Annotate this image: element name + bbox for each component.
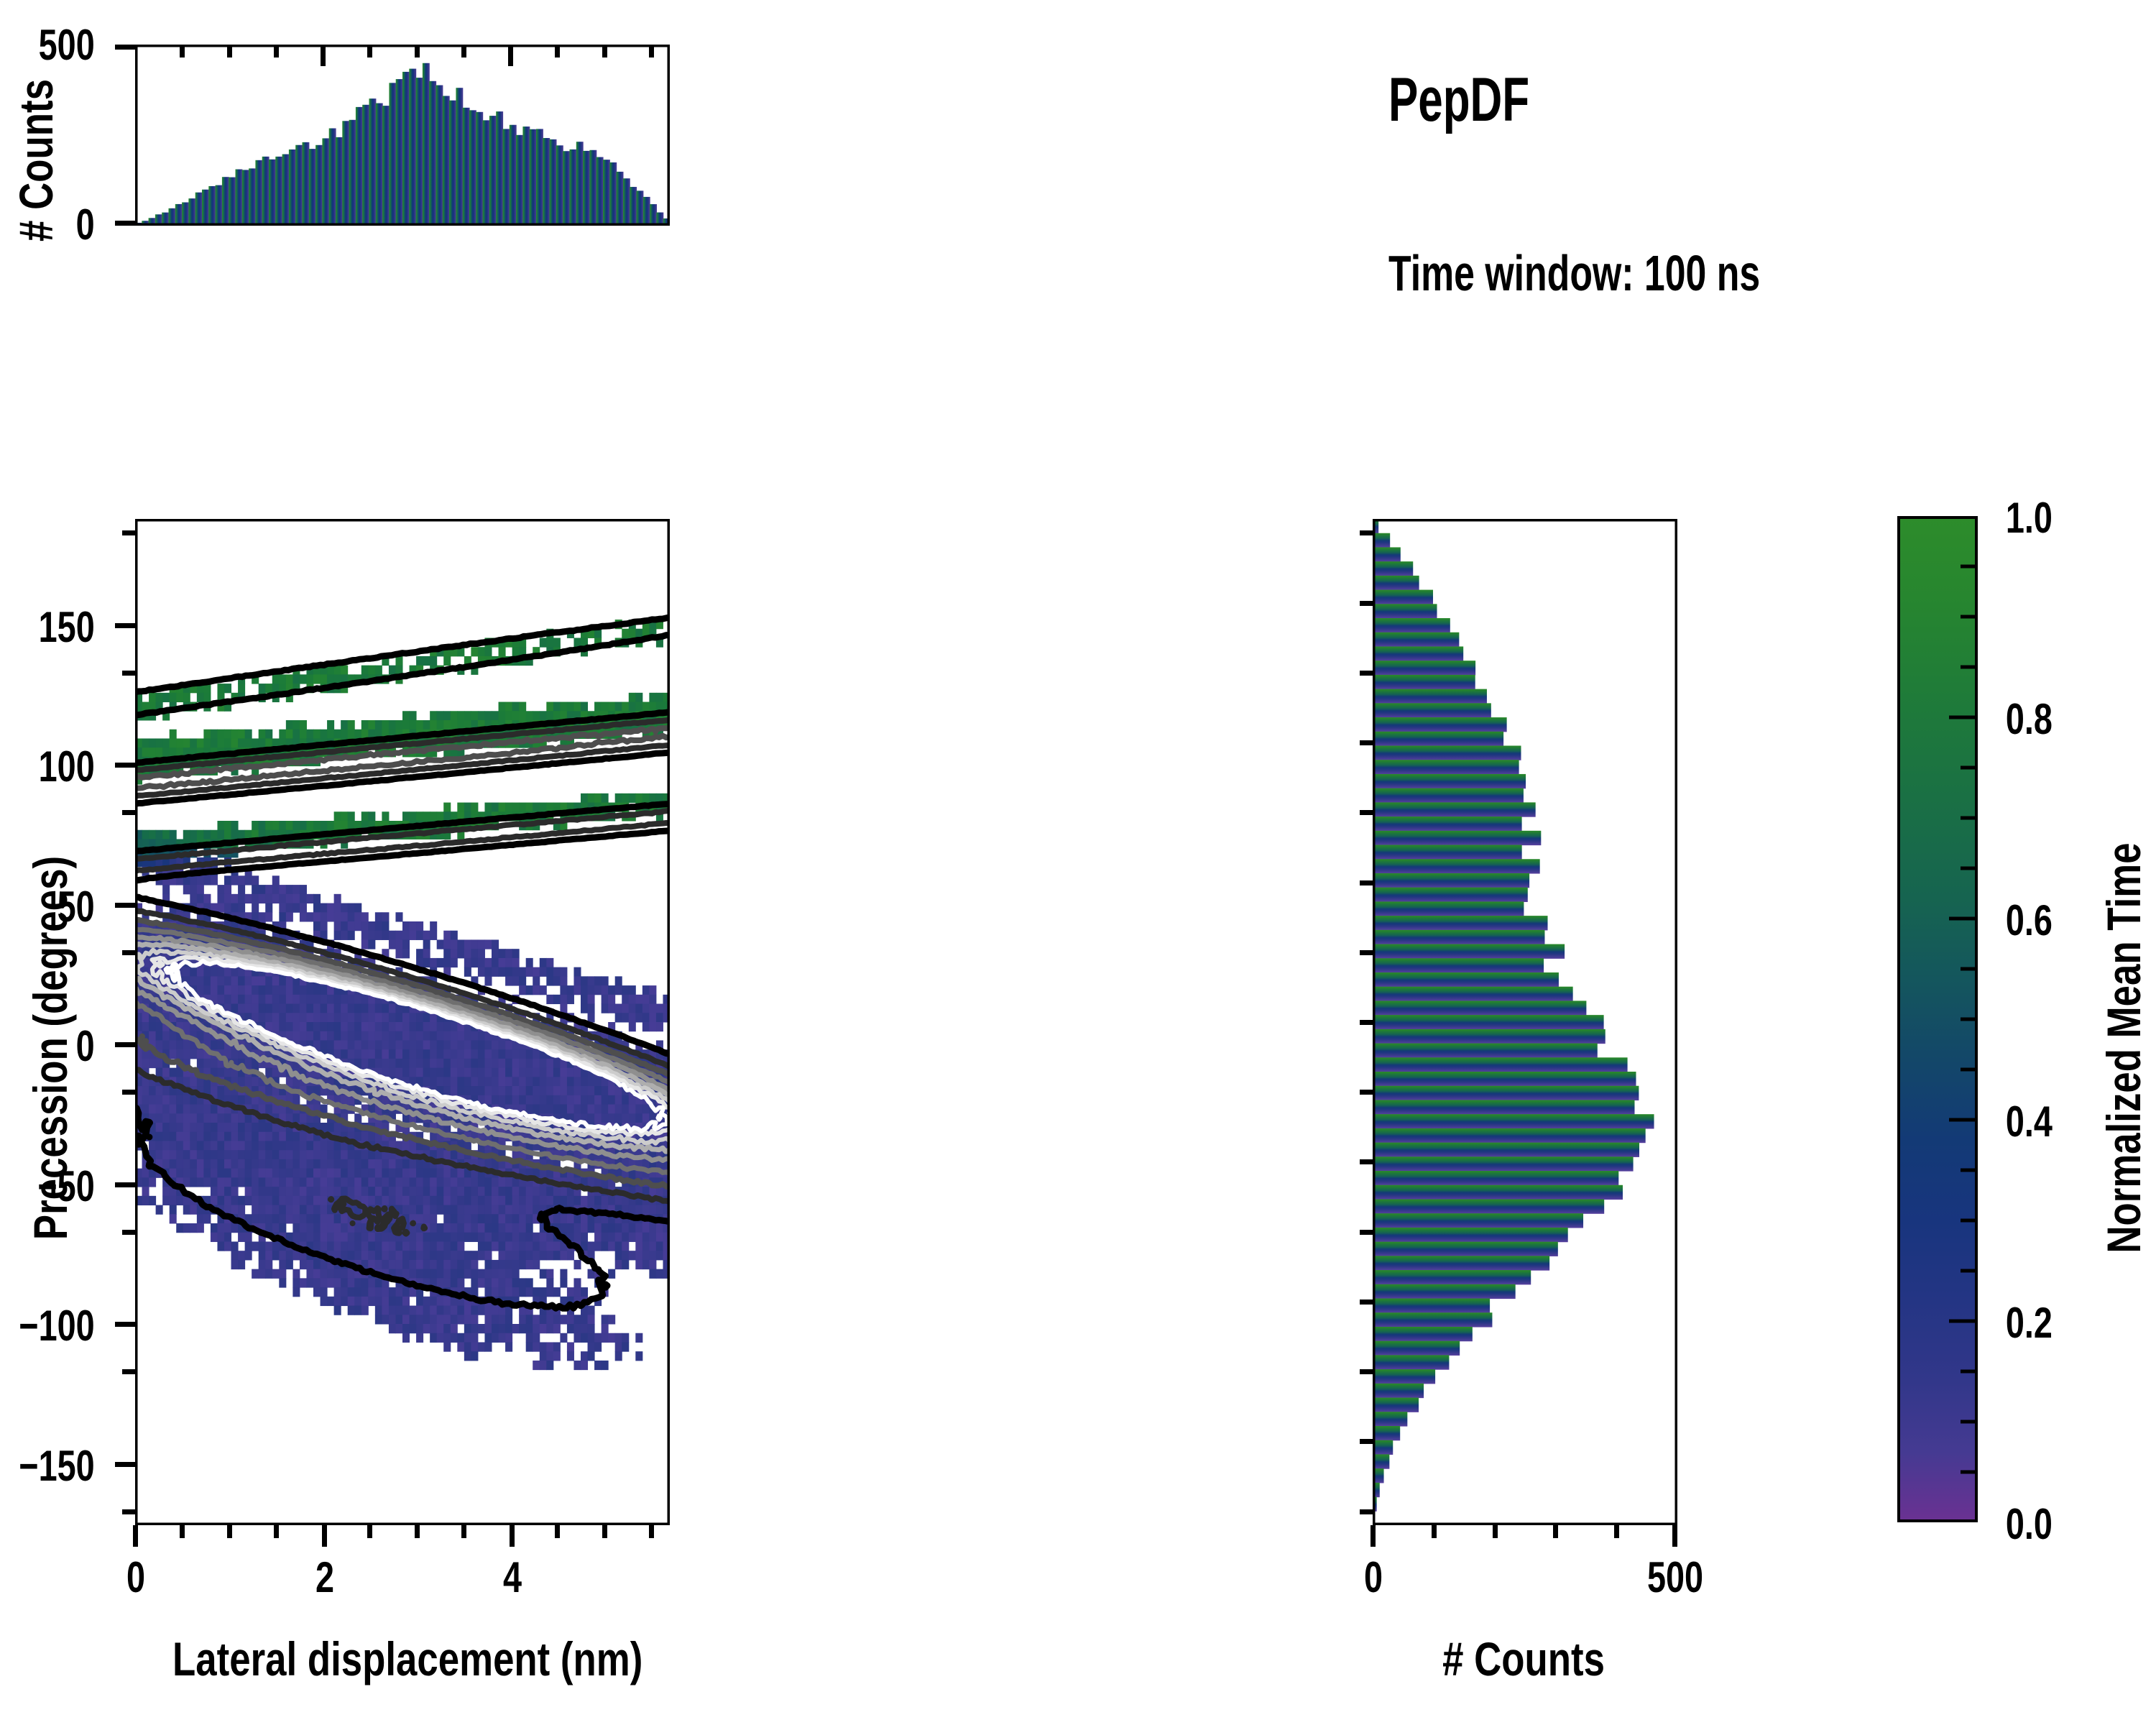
right-panel-ytick-minor: [1360, 810, 1373, 815]
main-ytick-minor: [122, 1369, 135, 1374]
main-xtick-2: [322, 1525, 327, 1547]
right-panel-ytick-minor: [1360, 601, 1373, 606]
main-xtick-minor: [415, 1525, 420, 1538]
figure-root: 500 0 # Counts 150 100 50 0 −50 −100 −15…: [0, 0, 2156, 1725]
main-xtick-label-4: 4: [471, 1552, 555, 1602]
right-panel-ytick-minor: [1360, 1439, 1373, 1444]
main-ytick-minor: [122, 530, 135, 535]
right-panel-xtick-500: [1672, 1525, 1677, 1547]
main-ylabel: Precession (degrees): [23, 760, 78, 1335]
right-panel-ytick-minor: [1360, 1299, 1373, 1305]
right-panel-ytick-minor: [1360, 1230, 1373, 1235]
main-xtick-minor: [180, 1525, 185, 1538]
colorbar-svg: [1897, 516, 1978, 1522]
main-xtick-minor: [649, 1525, 654, 1538]
right-panel-xtick-minor: [1614, 1525, 1619, 1538]
right-panel-xlabel: # Counts: [1374, 1632, 1673, 1686]
top-panel-ytick-500: [115, 45, 135, 50]
main-ytick-label-150: 150: [11, 602, 94, 652]
main-xtick-minor: [555, 1525, 560, 1538]
colorbar: [1897, 516, 1978, 1522]
top-panel-xtick-minor: [180, 45, 185, 57]
main-ytick-50: [115, 903, 135, 908]
right-panel-xtick-label-0: 0: [1332, 1552, 1416, 1602]
main-xtick-minor: [227, 1525, 232, 1538]
top-panel-xtick-minor: [367, 45, 372, 57]
right-panel-ytick-minor: [1360, 1509, 1373, 1514]
right-panel-ytick-minor: [1360, 1159, 1373, 1164]
top-panel-xtick-minor: [508, 45, 513, 66]
right-panel-ytick-minor: [1360, 950, 1373, 955]
right-panel-ytick-minor: [1360, 671, 1373, 676]
top-panel-xtick-minor: [321, 45, 326, 66]
right-panel-ytick-minor: [1360, 1369, 1373, 1374]
colorbar-tick-label-0-0: 0.0: [2006, 1499, 2112, 1549]
top-panel-xtick-minor: [602, 45, 607, 57]
colorbar-label: Normalized Mean Time: [2096, 760, 2151, 1335]
main-xtick-label-2: 2: [283, 1552, 367, 1602]
main-xtick-label-0: 0: [94, 1552, 178, 1602]
right-panel-ytick-minor: [1360, 530, 1373, 535]
colorbar-tick-label-0-8: 0.8: [2006, 694, 2112, 744]
right-panel-ytick-minor: [1360, 740, 1373, 745]
top-panel-xtick-minor: [461, 45, 466, 57]
right-panel-ytick-minor: [1360, 880, 1373, 885]
main-heatmap-panel: [135, 519, 670, 1525]
main-xtick-0: [133, 1525, 138, 1547]
top-panel-ytick-0: [115, 221, 135, 226]
right-histogram-panel: [1373, 519, 1677, 1525]
top-panel-xtick-minor: [649, 45, 654, 57]
main-xtick-minor: [461, 1525, 466, 1538]
top-panel-xtick-minor: [274, 45, 279, 57]
top-panel-xtick-minor: [415, 45, 420, 57]
right-panel-xtick-minor: [1432, 1525, 1437, 1538]
main-ytick-150: [115, 623, 135, 628]
top-histogram-svg: [135, 45, 670, 226]
main-ytick-label-neg150: −150: [11, 1441, 94, 1491]
main-ytick-minor: [122, 671, 135, 676]
main-ytick-100: [115, 763, 135, 768]
main-ytick-minor: [122, 1090, 135, 1095]
main-xtick-minor: [602, 1525, 607, 1538]
right-panel-xtick-0: [1370, 1525, 1376, 1547]
page-title: PepDF: [1388, 65, 1529, 136]
right-panel-xtick-minor: [1553, 1525, 1558, 1538]
main-ytick-neg100: [115, 1322, 135, 1327]
main-xtick-minor: [274, 1525, 279, 1538]
main-ytick-minor: [122, 1509, 135, 1514]
right-panel-ytick-minor: [1360, 1020, 1373, 1025]
main-ytick-neg50: [115, 1182, 135, 1187]
main-ytick-0: [115, 1042, 135, 1047]
main-ytick-minor: [122, 810, 135, 815]
right-panel-xtick-label-500: 500: [1634, 1552, 1718, 1602]
top-histogram-panel: [135, 45, 670, 226]
main-ytick-minor: [122, 1230, 135, 1235]
main-xtick-4: [510, 1525, 515, 1547]
top-panel-ylabel: # Counts: [9, 57, 63, 264]
top-panel-xtick-minor: [555, 45, 560, 57]
main-xlabel: Lateral displacement (nm): [172, 1632, 632, 1686]
main-heatmap-svg: [135, 519, 670, 1525]
right-histogram-svg: [1373, 519, 1677, 1525]
main-ytick-minor: [122, 950, 135, 955]
page-subtitle: Time window: 100 ns: [1388, 244, 1760, 302]
right-panel-ytick-minor: [1360, 1090, 1373, 1095]
right-panel-xtick-minor: [1493, 1525, 1498, 1538]
top-panel-xtick-minor: [227, 45, 232, 57]
main-ytick-neg150: [115, 1462, 135, 1467]
main-xtick-minor: [367, 1525, 372, 1538]
colorbar-tick-label-1-0: 1.0: [2006, 493, 2112, 543]
